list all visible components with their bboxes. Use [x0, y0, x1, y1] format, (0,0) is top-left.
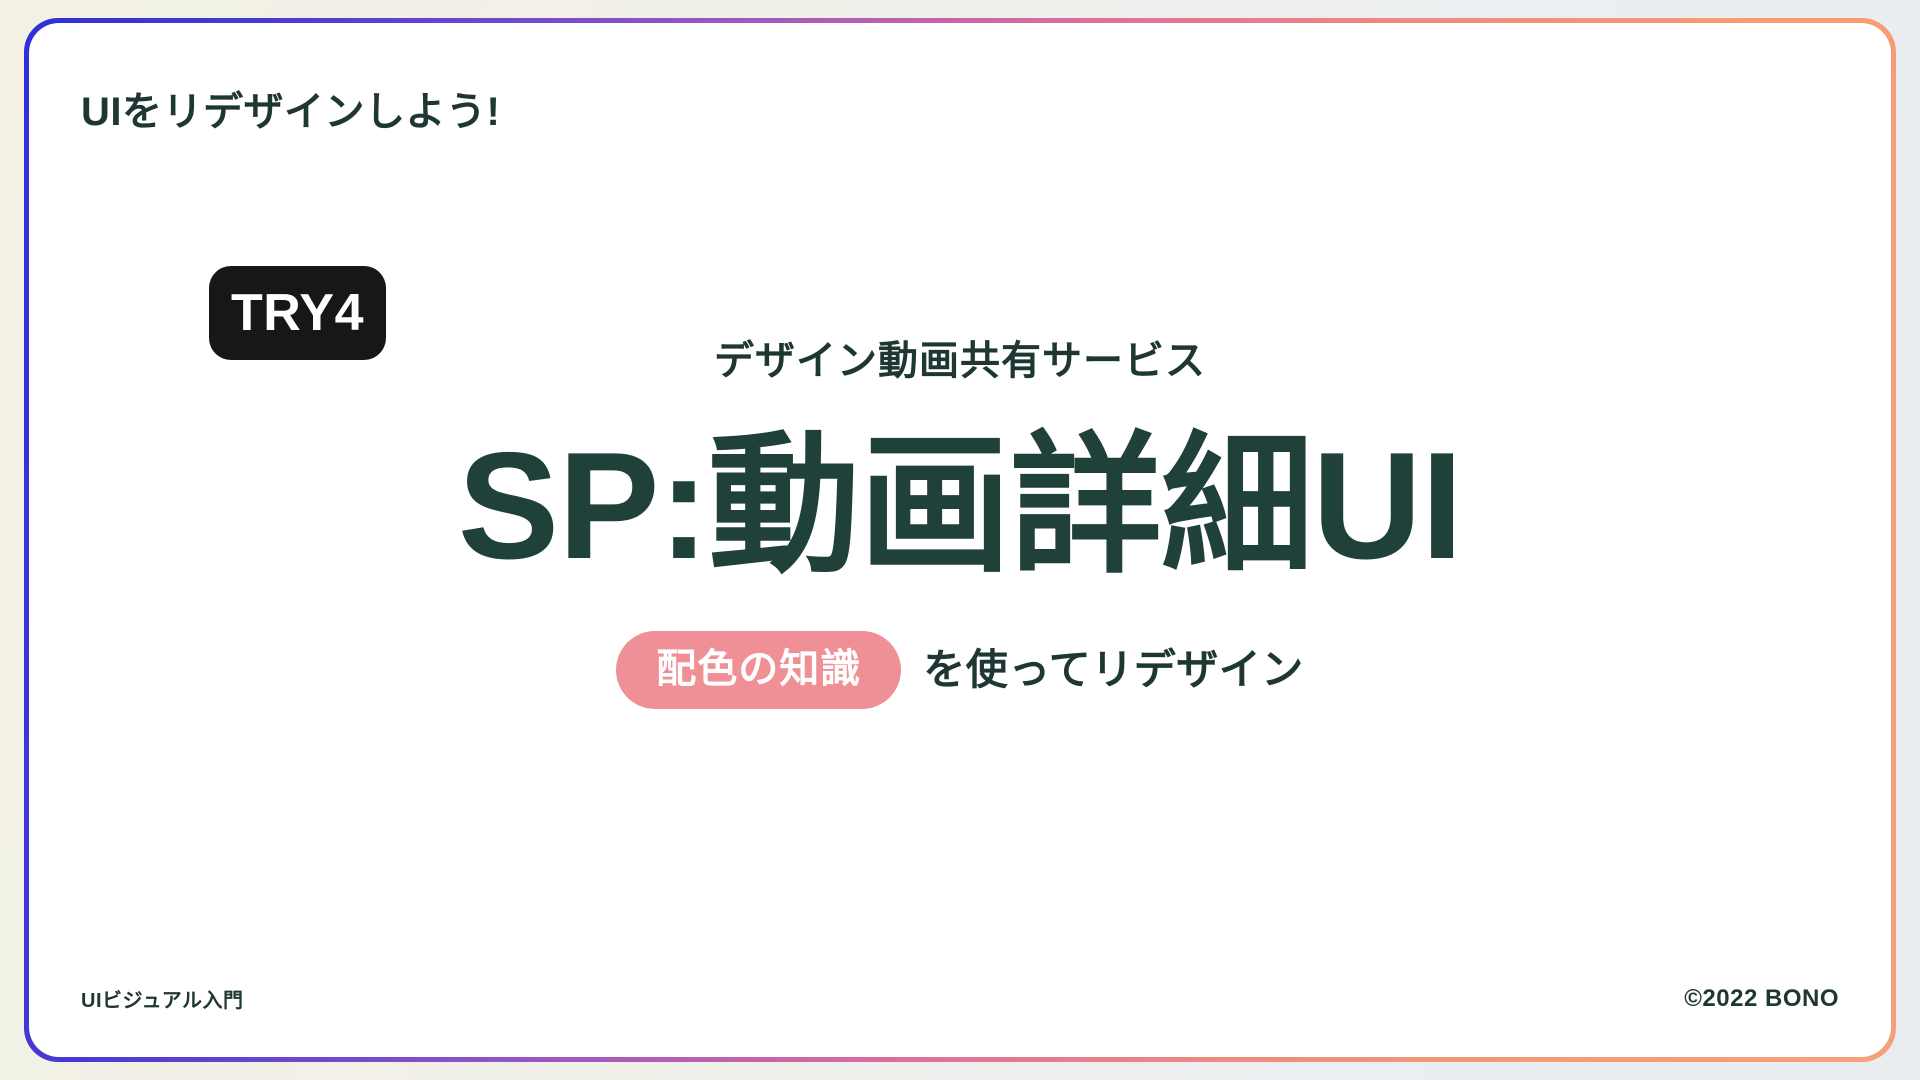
footer-copyright: ©2022 BONO	[1684, 985, 1839, 1013]
pill-row: 配色の知識 を使ってリデザイン	[616, 631, 1303, 709]
footer-series-label: UIビジュアル入門	[81, 984, 244, 1013]
headline: SP:動画詳細UI	[458, 427, 1462, 585]
topic-pill-label: 配色の知識	[656, 649, 861, 689]
page-title: UIをリデザインしよう!	[81, 79, 500, 137]
slide-gradient-border: UIをリデザインしよう! TRY4 デザイン動画共有サービス SP:動画詳細UI…	[24, 18, 1896, 1062]
topic-pill: 配色の知識	[616, 631, 901, 709]
hero-content: デザイン動画共有サービス SP:動画詳細UI 配色の知識 を使ってリデザイン	[29, 341, 1891, 709]
eyebrow-label: デザイン動画共有サービス	[714, 341, 1206, 381]
try-badge-label: TRY4	[231, 283, 364, 343]
slide-card: UIをリデザインしよう! TRY4 デザイン動画共有サービス SP:動画詳細UI…	[29, 23, 1891, 1057]
pill-suffix-text: を使ってリデザイン	[923, 649, 1303, 691]
